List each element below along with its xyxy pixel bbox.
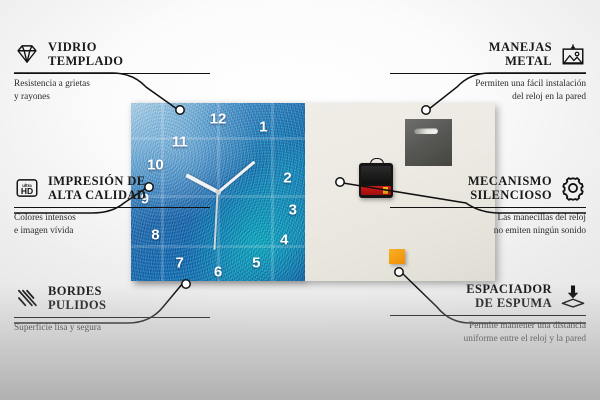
- feature-vidrio-templado: VIDRIO TEMPLADO Resistencia a grietas y …: [14, 40, 210, 103]
- feature-header: MANEJAS METAL: [390, 40, 586, 69]
- feature-title-line2: DE ESPUMA: [466, 296, 552, 310]
- feature-title: MECANISMO SILENCIOSO: [468, 174, 552, 203]
- feature-title-line1: VIDRIO: [48, 40, 123, 54]
- feature-description: Las manecillas del reloj no emiten ningú…: [390, 212, 586, 237]
- polished-edges-icon: [14, 285, 40, 311]
- picture-hanger-icon: [560, 41, 586, 67]
- feature-title-line1: ESPACIADOR: [466, 282, 552, 296]
- feature-description: Permiten una fácil instalación del reloj…: [390, 78, 586, 103]
- clock-numeral-5: 5: [252, 256, 260, 271]
- feature-desc-line2: no emiten ningún sonido: [390, 225, 586, 237]
- feature-header: BORDES PULIDOS: [14, 284, 210, 313]
- feature-title-line2: SILENCIOSO: [468, 188, 552, 202]
- infographic-canvas: 12 1 2 3 4 5 6 7 8 9 10 11: [0, 0, 600, 400]
- clock-numeral-6: 6: [214, 265, 222, 280]
- feature-title: VIDRIO TEMPLADO: [48, 40, 123, 69]
- clock-numeral-4: 4: [280, 233, 288, 248]
- feature-description: Permite mantener una distancia uniforme …: [390, 320, 586, 345]
- clock-numeral-7: 7: [176, 256, 184, 271]
- feature-header: MECANISMO SILENCIOSO: [390, 174, 586, 203]
- clock-numeral-1: 1: [259, 120, 267, 135]
- feature-title-line1: MECANISMO: [468, 174, 552, 188]
- feature-divider: [390, 315, 586, 317]
- feature-desc-line2: uniforme entre el reloj y la pared: [390, 333, 586, 345]
- feature-description: Resistencia a grietas y rayones: [14, 78, 210, 103]
- foam-spacer-icon: [560, 283, 586, 309]
- feature-title-line2: PULIDOS: [48, 298, 106, 312]
- clock-numeral-2: 2: [283, 170, 291, 185]
- feature-title: BORDES PULIDOS: [48, 284, 106, 313]
- feature-divider: [390, 73, 586, 75]
- clock-mechanism: [359, 163, 393, 198]
- feature-header: ESPACIADOR DE ESPUMA: [390, 282, 586, 311]
- feature-desc-line1: Permiten una fácil instalación: [390, 78, 586, 90]
- feature-title: ESPACIADOR DE ESPUMA: [466, 282, 552, 311]
- feature-title-line2: ALTA CALIDAD: [48, 188, 146, 202]
- feature-mecanismo-silencioso: MECANISMO SILENCIOSO Las manecillas del …: [390, 174, 586, 237]
- feature-header: VIDRIO TEMPLADO: [14, 40, 210, 69]
- feature-divider: [390, 207, 586, 209]
- feature-description: Colores intensos e imagen vívida: [14, 212, 210, 237]
- feature-desc-line1: Las manecillas del reloj: [390, 212, 586, 224]
- clock-numeral-3: 3: [289, 202, 297, 217]
- mechanism-body: [361, 166, 391, 184]
- feature-header: ultra HD IMPRESIÓN DE ALTA CALIDAD: [14, 174, 210, 203]
- feature-desc-line1: Resistencia a grietas: [14, 78, 210, 90]
- feature-desc-line1: Superficie lisa y segura: [14, 322, 210, 334]
- feature-bordes-pulidos: BORDES PULIDOS Superficie lisa y segura: [14, 284, 210, 335]
- feature-title-line1: MANEJAS: [489, 40, 552, 54]
- feature-divider: [14, 207, 210, 209]
- foam-spacer: [389, 249, 405, 264]
- feature-desc-line2: y rayones: [14, 91, 210, 103]
- clock-numeral-11: 11: [172, 135, 188, 150]
- feature-desc-line1: Permite mantener una distancia: [390, 320, 586, 332]
- feature-desc-line2: del reloj en la pared: [390, 91, 586, 103]
- feature-manejas-metal: MANEJAS METAL Permiten una fácil instala…: [390, 40, 586, 103]
- feature-title-line2: METAL: [489, 54, 552, 68]
- clock-numeral-12: 12: [210, 112, 227, 127]
- battery-compartment: [361, 186, 391, 195]
- gear-icon: [560, 175, 586, 201]
- feature-divider: [14, 317, 210, 319]
- clock-center-pin: [216, 190, 221, 195]
- feature-title: IMPRESIÓN DE ALTA CALIDAD: [48, 174, 146, 203]
- feature-desc-line1: Colores intensos: [14, 212, 210, 224]
- feature-title-line2: TEMPLADO: [48, 54, 123, 68]
- svg-text:HD: HD: [21, 186, 33, 196]
- feature-espaciador-espuma: ESPACIADOR DE ESPUMA Permite mantener un…: [390, 282, 586, 345]
- feature-impresion-alta-calidad: ultra HD IMPRESIÓN DE ALTA CALIDAD Color…: [14, 174, 210, 237]
- clock-numeral-10: 10: [147, 158, 164, 173]
- diamond-icon: [14, 41, 40, 67]
- feature-desc-line2: e imagen vívida: [14, 225, 210, 237]
- feature-divider: [14, 73, 210, 75]
- feature-description: Superficie lisa y segura: [14, 322, 210, 334]
- feature-title: MANEJAS METAL: [489, 40, 552, 69]
- feature-title-line1: BORDES: [48, 284, 106, 298]
- ultra-hd-icon: ultra HD: [14, 175, 40, 201]
- metal-hanger-plate: [405, 119, 452, 166]
- feature-title-line1: IMPRESIÓN DE: [48, 174, 146, 188]
